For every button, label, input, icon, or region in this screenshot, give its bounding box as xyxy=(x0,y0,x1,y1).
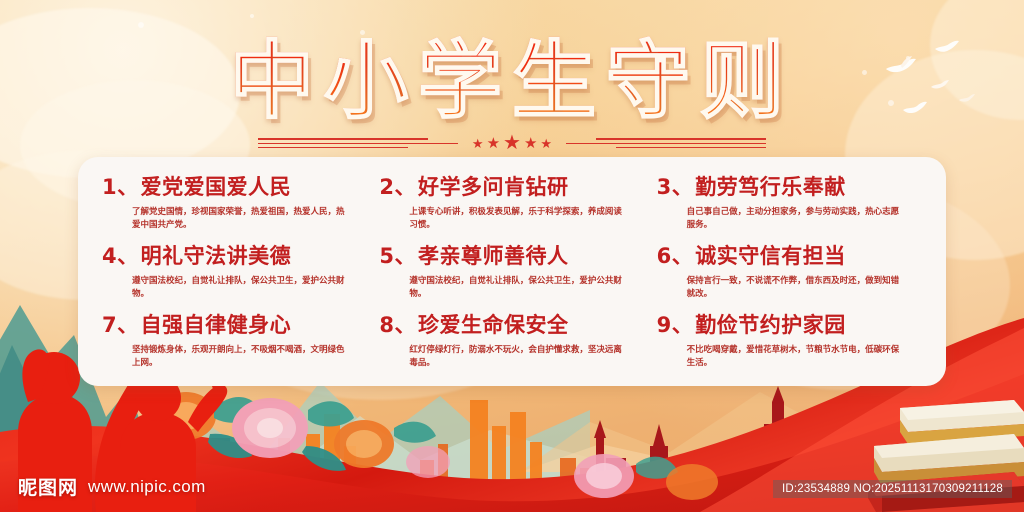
rule-description: 遵守国法校纪，自觉礼让排队，保公共卫生，爱护公共财物。 xyxy=(409,275,624,301)
rule-item[interactable]: 7、 自强自律健身心 坚持锻炼身体，乐观开朗向上，不吸烟不喝酒，文明绿色上网。 xyxy=(96,307,373,376)
rule-number: 9、 xyxy=(657,309,694,339)
rule-number: 2、 xyxy=(379,171,416,201)
rule-number: 6、 xyxy=(657,240,694,270)
rule-item[interactable]: 3、 勤劳笃行乐奉献 自己事自己做，主动分担家务，参与劳动实践，热心志愿服务。 xyxy=(651,169,928,238)
rule-heading-row: 5、 孝亲尊师善待人 xyxy=(379,240,640,270)
rule-item[interactable]: 5、 孝亲尊师善待人 遵守国法校纪，自觉礼让排队，保公共卫生，爱护公共财物。 xyxy=(373,238,650,307)
rule-item[interactable]: 4、 明礼守法讲美德 遵守国法校纪，自觉礼让排队，保公共卫生，爱护公共财物。 xyxy=(96,238,373,307)
rule-heading-row: 6、 诚实守信有担当 xyxy=(657,240,918,270)
star-divider: ★ ★ ★ ★ ★ xyxy=(0,132,1024,154)
rule-heading: 自强自律健身心 xyxy=(141,309,292,339)
rule-heading: 好学多问肯钻研 xyxy=(418,171,569,201)
star-group: ★ ★ ★ ★ ★ xyxy=(466,133,558,153)
rule-description: 了解党史国情，珍视国家荣誉，热爱祖国，热爱人民，热爱中国共产党。 xyxy=(132,206,347,232)
rule-number: 1、 xyxy=(102,171,139,201)
star-icon: ★ xyxy=(487,136,500,151)
watermark-brand: 昵图网 xyxy=(18,473,78,500)
rule-item[interactable]: 9、 勤俭节约护家园 不比吃喝穿戴，爱惜花草树木，节粮节水节电，低碳环保生活。 xyxy=(651,307,928,376)
divider-line-right xyxy=(566,138,766,149)
rule-heading: 勤俭节约护家园 xyxy=(695,309,846,339)
rule-item[interactable]: 6、 诚实守信有担当 保持言行一致，不说谎不作弊，借东西及时还，做到知错就改。 xyxy=(651,238,928,307)
rule-heading: 爱党爱国爱人民 xyxy=(141,171,292,201)
divider-line-left xyxy=(258,138,458,149)
poster-title-wrap: 中小学生守则 xyxy=(0,14,1024,135)
rule-heading: 珍爱生命保安全 xyxy=(418,309,569,339)
rule-heading: 诚实守信有担当 xyxy=(695,240,846,270)
rules-panel: 1、 爱党爱国爱人民 了解党史国情，珍视国家荣誉，热爱祖国，热爱人民，热爱中国共… xyxy=(78,157,946,386)
rule-heading-row: 4、 明礼守法讲美德 xyxy=(102,240,363,270)
rule-heading-row: 2、 好学多问肯钻研 xyxy=(379,171,640,201)
rule-heading-row: 3、 勤劳笃行乐奉献 xyxy=(657,171,918,201)
rule-number: 8、 xyxy=(379,309,416,339)
rule-heading: 明礼守法讲美德 xyxy=(141,240,292,270)
rule-description: 不比吃喝穿戴，爱惜花草树木，节粮节水节电，低碳环保生活。 xyxy=(687,344,902,370)
rule-heading: 孝亲尊师善待人 xyxy=(418,240,569,270)
rule-heading-row: 9、 勤俭节约护家园 xyxy=(657,309,918,339)
rule-number: 3、 xyxy=(657,171,694,201)
rule-heading-row: 8、 珍爱生命保安全 xyxy=(379,309,640,339)
rule-number: 4、 xyxy=(102,240,139,270)
rule-description: 自己事自己做，主动分担家务，参与劳动实践，热心志愿服务。 xyxy=(687,206,902,232)
rule-item[interactable]: 8、 珍爱生命保安全 红灯停绿灯行，防溺水不玩火，会自护懂求救，坚决远离毒品。 xyxy=(373,307,650,376)
watermark-url: www.nipic.com xyxy=(88,477,206,497)
star-icon: ★ xyxy=(524,136,537,151)
peony-flowers xyxy=(560,434,740,504)
rule-item[interactable]: 2、 好学多问肯钻研 上课专心听讲，积极发表见解，乐于科学探索，养成阅读习惯。 xyxy=(373,169,650,238)
star-icon: ★ xyxy=(472,137,484,150)
rule-heading-row: 7、 自强自律健身心 xyxy=(102,309,363,339)
star-icon: ★ xyxy=(540,137,552,150)
rule-heading: 勤劳笃行乐奉献 xyxy=(695,171,846,201)
poster-canvas: 中小学生守则 ★ ★ ★ ★ ★ xyxy=(0,0,1024,512)
rule-heading-row: 1、 爱党爱国爱人民 xyxy=(102,171,363,201)
page-title: 中小学生守则 xyxy=(222,14,802,135)
rule-description: 坚持锻炼身体，乐观开朗向上，不吸烟不喝酒，文明绿色上网。 xyxy=(132,344,347,370)
rule-description: 遵守国法校纪，自觉礼让排队，保公共卫生，爱护公共财物。 xyxy=(132,275,347,301)
rule-number: 7、 xyxy=(102,309,139,339)
image-idcode: ID:23534889 NO:20251113170309211128 xyxy=(773,480,1012,498)
rule-description: 红灯停绿灯行，防溺水不玩火，会自护懂求救，坚决远离毒品。 xyxy=(409,344,624,370)
rule-item[interactable]: 1、 爱党爱国爱人民 了解党史国情，珍视国家荣誉，热爱祖国，热爱人民，热爱中国共… xyxy=(96,169,373,238)
rule-description: 保持言行一致，不说谎不作弊，借东西及时还，做到知错就改。 xyxy=(687,275,902,301)
star-icon: ★ xyxy=(503,133,521,153)
rule-description: 上课专心听讲，积极发表见解，乐于科学探索，养成阅读习惯。 xyxy=(409,206,624,232)
rule-number: 5、 xyxy=(379,240,416,270)
watermark: 昵图网 www.nipic.com xyxy=(18,473,206,500)
